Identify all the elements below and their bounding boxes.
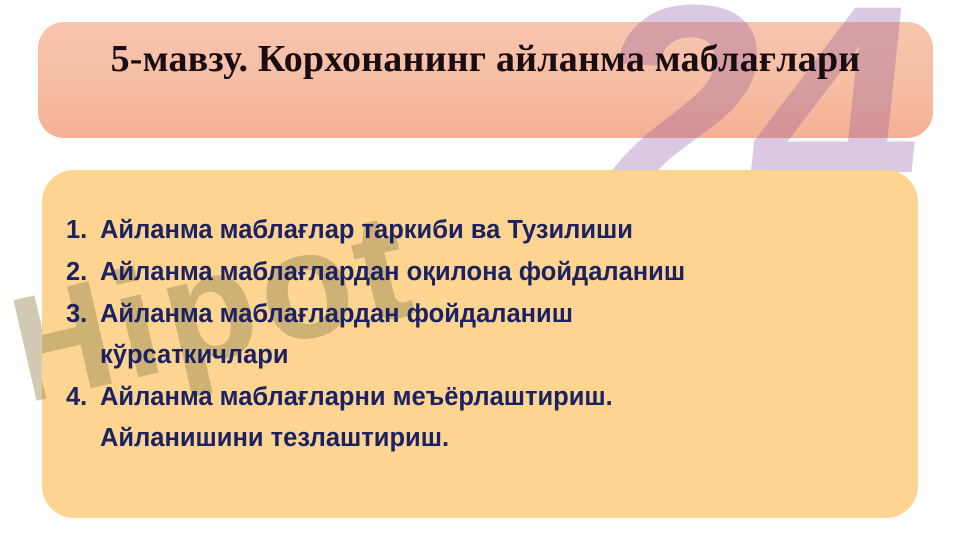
- list-item: 1. Айланма маблағлар таркиби ва Тузилиши: [66, 210, 894, 251]
- title-panel: 24 5-мавзу. Корхонанинг айланма маблағла…: [38, 22, 933, 138]
- page-title: 5-мавзу. Корхонанинг айланма маблағлари: [38, 35, 933, 83]
- list-item-number: 1.: [66, 210, 100, 251]
- list-item-label: Айланма маблағлар таркиби ва Тузилиши: [100, 210, 894, 251]
- list-item: 4. Айланма маблағларни меъёрлаштириш. Ай…: [66, 377, 894, 459]
- list-item: 3. Айланма маблағлардан фойдаланиш кўрса…: [66, 294, 894, 376]
- list-item-label: Айланма маблағларни меъёрлаштириш. Айлан…: [100, 377, 894, 459]
- content-panel: Hipot 1. Айланма маблағлар таркиби ва Ту…: [42, 170, 918, 518]
- list-item-label: Айланма маблағлардан фойдаланиш кўрсатки…: [100, 294, 894, 376]
- list-item-number: 2.: [66, 252, 100, 293]
- list-item-number: 3.: [66, 294, 100, 335]
- slide-canvas: 24 Hipot 24 5-мавзу. Корхонанинг айланма…: [0, 0, 961, 540]
- list-item-number: 4.: [66, 377, 100, 418]
- list-item: 2. Айланма маблағлардан оқилона фойдалан…: [66, 252, 894, 293]
- agenda-list: 1. Айланма маблағлар таркиби ва Тузилиши…: [42, 170, 918, 460]
- list-item-label: Айланма маблағлардан оқилона фойдаланиш: [100, 252, 894, 293]
